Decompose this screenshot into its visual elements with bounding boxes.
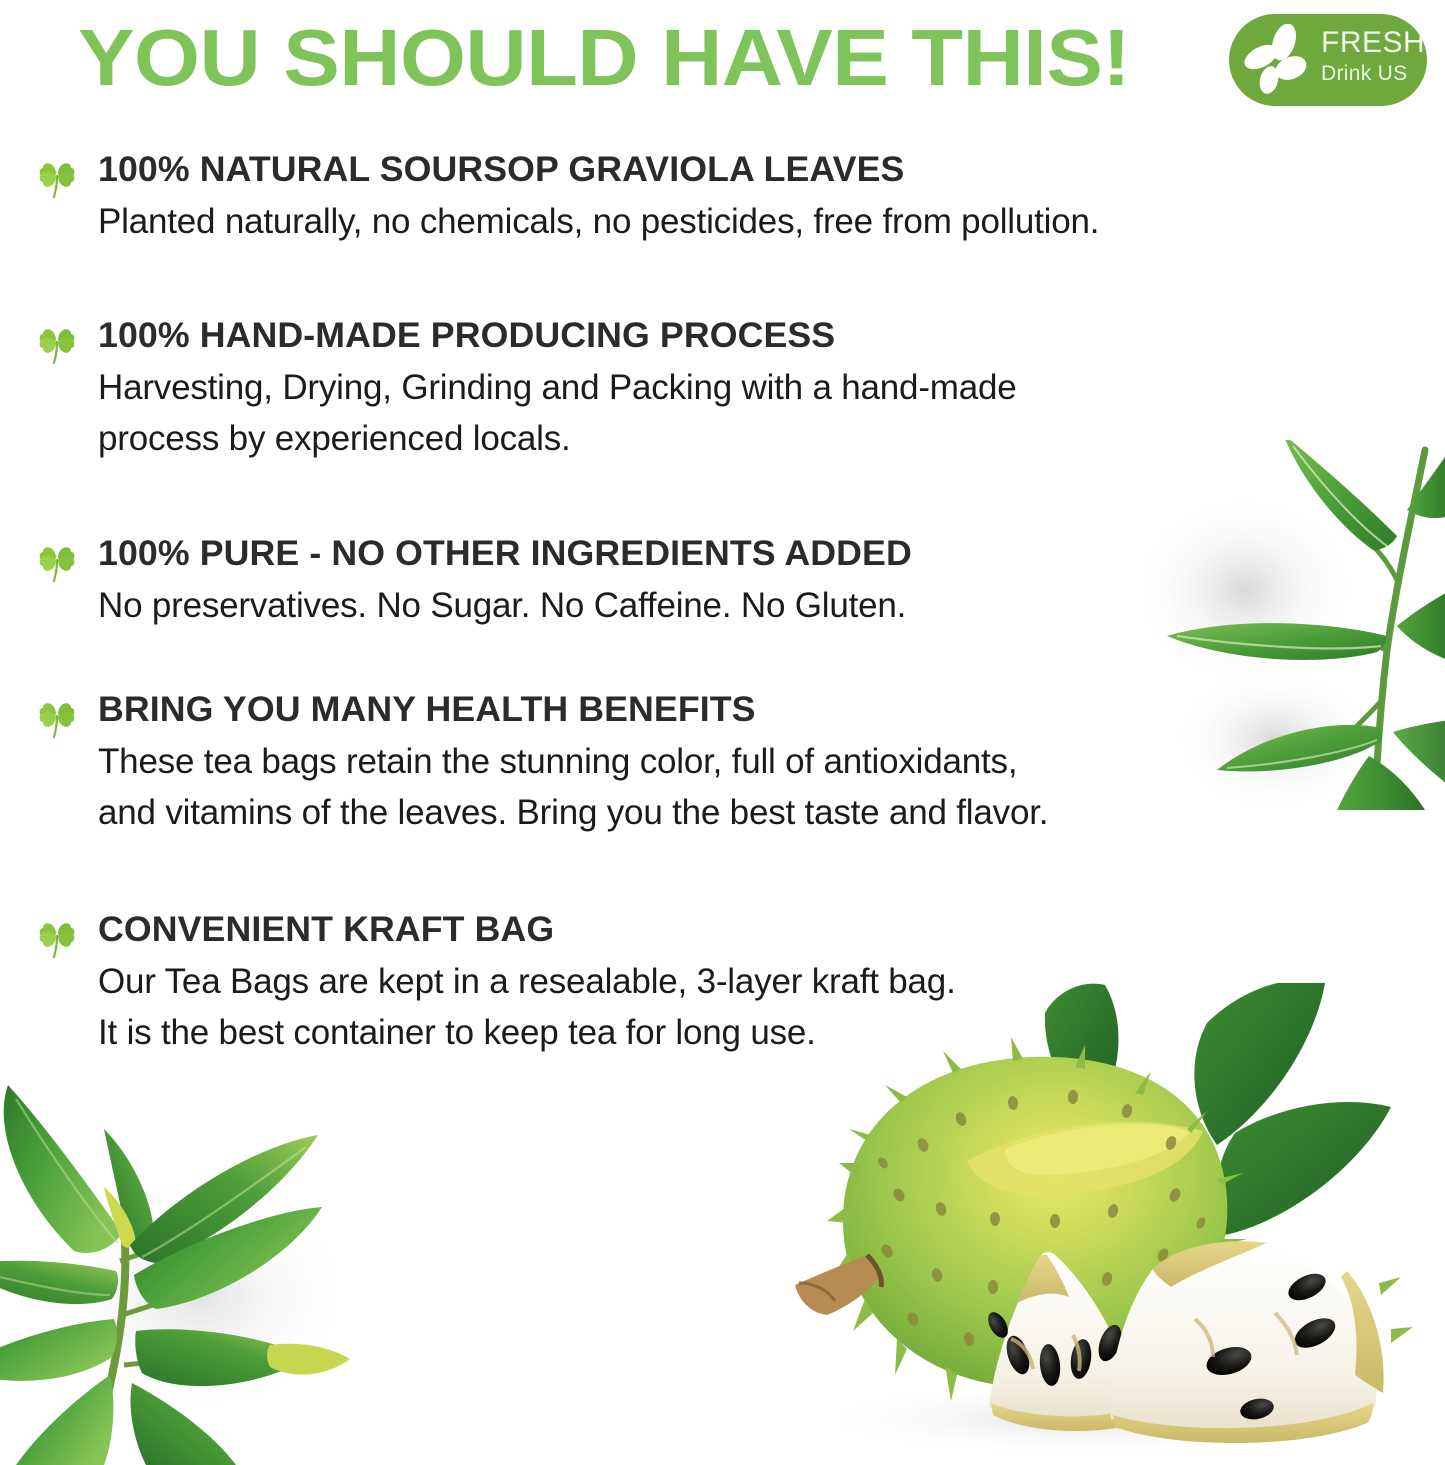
feature-item: CONVENIENT KRAFT BAG Our Tea Bags are ke… [36, 908, 956, 1058]
feature-description: Harvesting, Drying, Grinding and Packing… [98, 362, 1017, 464]
soursop-wedge-large [1110, 1241, 1383, 1443]
feature-title: 100% HAND-MADE PRODUCING PROCESS [98, 314, 1035, 358]
feature-title: 100% NATURAL SOURSOP GRAVIOLA LEAVES [98, 148, 1119, 192]
page-title: YOU SHOULD HAVE THIS! [78, 12, 1130, 104]
four-leaf-clover-icon [36, 320, 78, 364]
feature-item: 100% PURE - NO OTHER INGREDIENTS ADDED N… [36, 532, 906, 631]
feature-title: 100% PURE - NO OTHER INGREDIENTS ADDED [98, 532, 922, 576]
four-leaf-clover-icon [36, 694, 78, 738]
fresh-drink-us-logo: FRESH Drink US [1229, 14, 1427, 106]
feature-body: BRING YOU MANY HEALTH BENEFITS These tea… [98, 688, 1048, 838]
four-leaf-clover-icon [36, 914, 78, 958]
feature-body: 100% PURE - NO OTHER INGREDIENTS ADDED N… [98, 532, 906, 631]
logo-line-2: Drink US [1321, 61, 1421, 87]
feature-title: BRING YOU MANY HEALTH BENEFITS [98, 688, 1067, 732]
leaf-cluster-icon [1241, 24, 1315, 96]
feature-description: No preservatives. No Sugar. No Caffeine.… [98, 580, 906, 631]
feature-description: These tea bags retain the stunning color… [98, 736, 1048, 838]
infographic-canvas: YOU SHOULD HAVE THIS! FRESH Drink US [0, 0, 1445, 1445]
feature-description: Our Tea Bags are kept in a resealable, 3… [98, 956, 956, 1058]
soursop-wedge-small [984, 1252, 1137, 1431]
feature-body: CONVENIENT KRAFT BAG Our Tea Bags are ke… [98, 908, 956, 1058]
feature-body: 100% NATURAL SOURSOP GRAVIOLA LEAVES Pla… [98, 148, 1099, 247]
four-leaf-clover-icon [36, 538, 78, 582]
graviola-leaf-branch-left [0, 1065, 390, 1465]
four-leaf-clover-icon [36, 154, 78, 198]
logo-text: FRESH Drink US [1321, 27, 1421, 87]
logo-line-1: FRESH [1321, 27, 1421, 59]
feature-title: CONVENIENT KRAFT BAG [98, 908, 973, 952]
feature-item: 100% HAND-MADE PRODUCING PROCESS Harvest… [36, 314, 1017, 464]
header: YOU SHOULD HAVE THIS! FRESH Drink US [0, 0, 1445, 126]
feature-description: Planted naturally, no chemicals, no pest… [98, 196, 1099, 247]
feature-body: 100% HAND-MADE PRODUCING PROCESS Harvest… [98, 314, 1017, 464]
graviola-leaf-branch-right [1125, 440, 1445, 810]
feature-item: BRING YOU MANY HEALTH BENEFITS These tea… [36, 688, 1048, 838]
feature-item: 100% NATURAL SOURSOP GRAVIOLA LEAVES Pla… [36, 148, 1099, 247]
